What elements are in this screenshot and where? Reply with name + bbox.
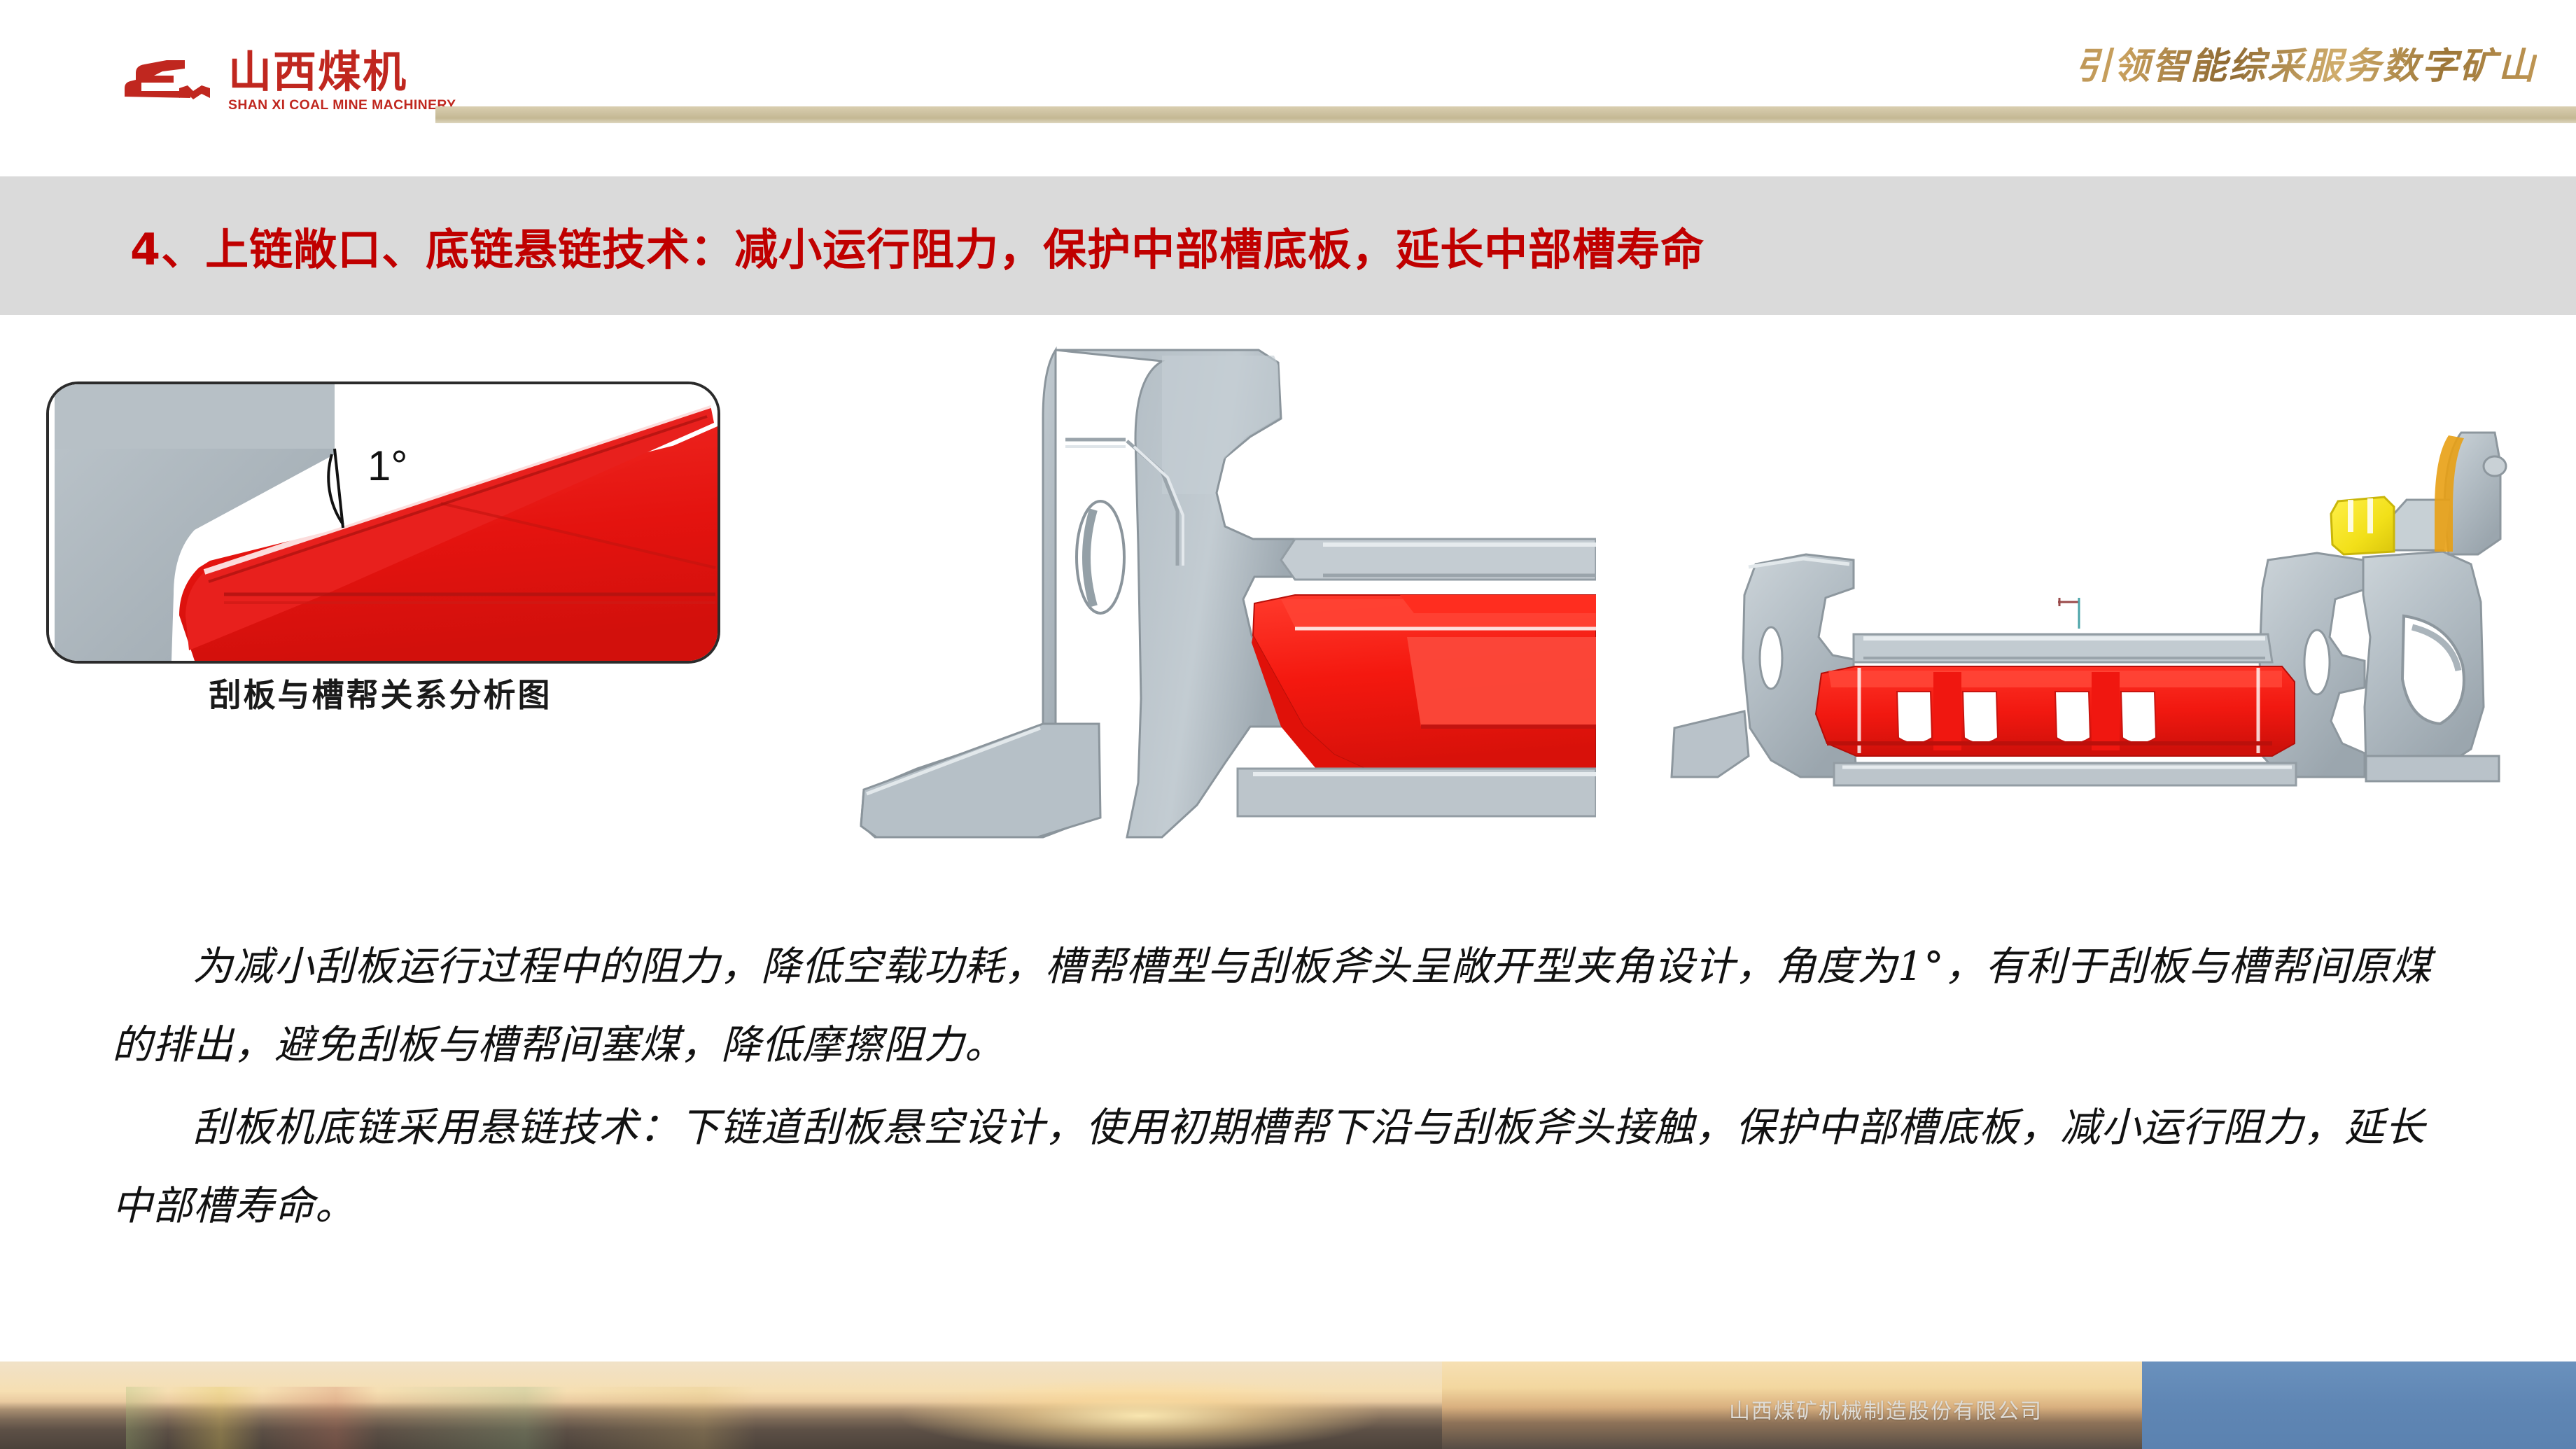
figure-scraper-chute-angle: 1° 刮板与槽帮关系分析图 — [46, 381, 715, 700]
figure3-drawing — [1666, 427, 2548, 819]
logo-chinese-name: 山西煤机 — [228, 50, 451, 94]
footer-sun-glow — [826, 1361, 1456, 1449]
logo-text-block: 山西煤机 SHAN XI COAL MINE MACHINERY — [228, 50, 451, 113]
header-tagline: 引领智能综采服务数字矿山 — [2005, 36, 2537, 97]
paragraph-2: 刮板机底链采用悬链技术：下链道刮板悬空设计，使用初期槽帮下沿与刮板斧头接触，保护… — [112, 1088, 2464, 1245]
footer-blue-accent — [2142, 1361, 2576, 1449]
figure1-caption: 刮板与槽帮关系分析图 — [46, 670, 715, 716]
slide-title-band: 4、上链敞口、底链悬链技术：减小运行阻力，保护中部槽底板，延长中部槽寿命 — [0, 176, 2576, 315]
figure-bottom-chain-suspension-section — [1666, 427, 2548, 819]
page-title: 4、上链敞口、底链悬链技术：减小运行阻力，保护中部槽底板，延长中部槽寿命 — [130, 214, 1704, 277]
coal-shearer-mark-icon — [120, 55, 218, 109]
figure1-frame: 1° — [46, 381, 720, 664]
figure1-angle-label: 1° — [367, 442, 407, 490]
figure-row: 1° 刮板与槽帮关系分析图 — [0, 322, 2576, 875]
slide-root: 山西煤机 SHAN XI COAL MINE MACHINERY 引领智能综采服… — [0, 0, 2576, 1449]
figure2-drawing — [833, 335, 1596, 853]
header-gold-divider — [435, 106, 2576, 123]
slide-header: 山西煤机 SHAN XI COAL MINE MACHINERY 引领智能综采服… — [0, 0, 2576, 176]
footer-company-name: 山西煤矿机械制造股份有限公司 — [1729, 1394, 2121, 1424]
body-copy: 为减小刮板运行过程中的阻力，降低空载功耗，槽帮槽型与刮板斧头呈敞开型夹角设计，角… — [112, 927, 2464, 1249]
logo-english-name: SHAN XI COAL MINE MACHINERY — [228, 98, 456, 113]
paragraph-1: 为减小刮板运行过程中的阻力，降低空载功耗，槽帮槽型与刮板斧头呈敞开型夹角设计，角… — [112, 927, 2464, 1084]
company-logo: 山西煤机 SHAN XI COAL MINE MACHINERY — [120, 43, 421, 120]
slide-footer: 山西煤矿机械制造股份有限公司 — [0, 1361, 2576, 1449]
figure-open-top-chain-section — [833, 335, 1596, 853]
figure1-drawing — [49, 384, 717, 661]
